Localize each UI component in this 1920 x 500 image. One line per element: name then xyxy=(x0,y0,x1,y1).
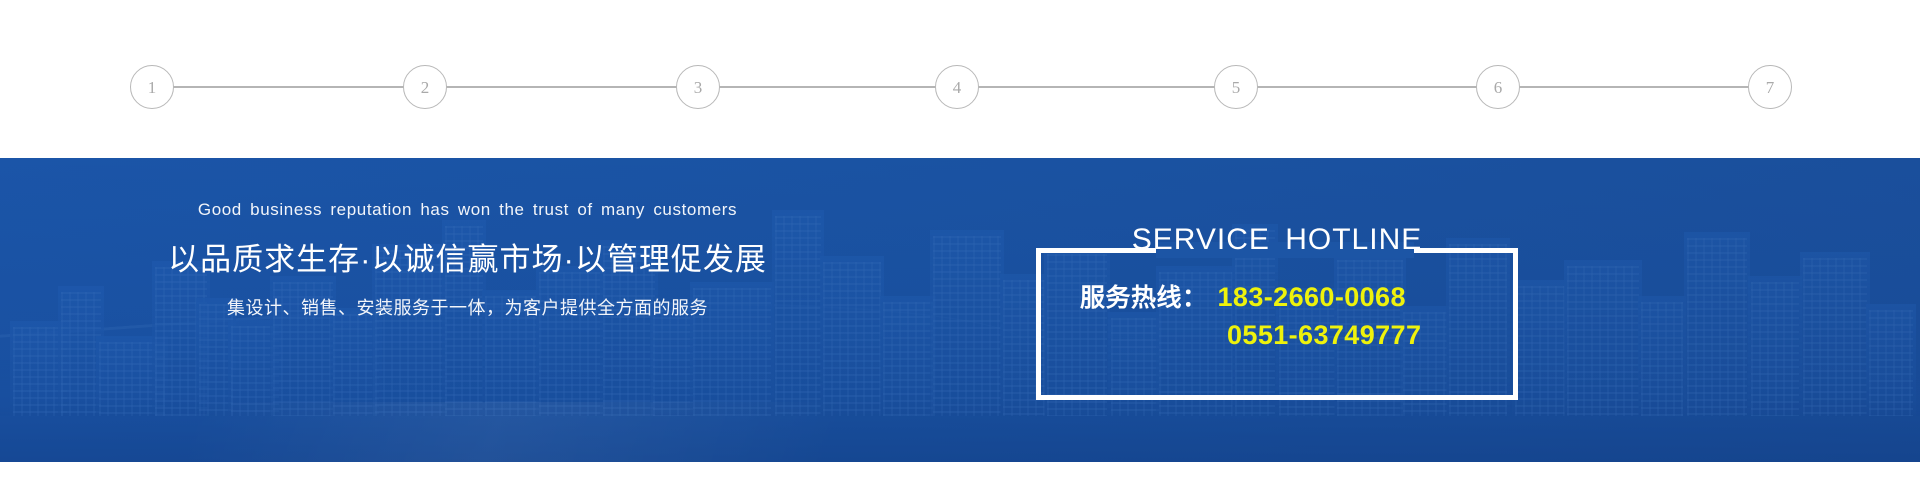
pagination-step-6[interactable]: 6 xyxy=(1476,65,1520,109)
hotline-phone-primary[interactable]: 183-2660-0068 xyxy=(1218,282,1406,313)
skyline-building xyxy=(1638,296,1686,416)
skyline-building xyxy=(1512,280,1568,416)
pagination-step-4[interactable]: 4 xyxy=(935,65,979,109)
pagination-step-3[interactable]: 3 xyxy=(676,65,720,109)
pagination-step-5[interactable]: 5 xyxy=(1214,65,1258,109)
service-hotline-box: SERVICE HOTLINE 服务热线： 183-2660-0068 0551… xyxy=(1036,248,1518,400)
skyline-building xyxy=(930,230,1004,416)
pagination-steps: 1234567 xyxy=(0,0,1920,158)
hero-bottom-sheen xyxy=(0,402,1920,462)
footer-white-strip xyxy=(0,462,1920,500)
skyline-building xyxy=(1684,232,1750,416)
pagination-step-1[interactable]: 1 xyxy=(130,65,174,109)
hotline-label: 服务热线： xyxy=(1080,278,1208,314)
hotline-title: SERVICE HOTLINE xyxy=(1036,223,1518,257)
skyline-building xyxy=(1564,260,1642,416)
hotline-row-secondary: 0551-63749777 xyxy=(1036,320,1518,351)
pagination-step-2[interactable]: 2 xyxy=(403,65,447,109)
skyline-building xyxy=(1800,252,1870,416)
pagination-step-7[interactable]: 7 xyxy=(1748,65,1792,109)
slogan-english: Good business reputation has won the tru… xyxy=(0,200,935,220)
slogan-headline: 以品质求生存·以诚信赢市场·以管理促发展 xyxy=(0,234,935,279)
slogan-subline: 集设计、销售、安装服务于一体，为客户提供全方面的服务 xyxy=(0,294,935,320)
skyline-building xyxy=(1748,276,1802,416)
skyline-building xyxy=(1866,304,1916,416)
slogan-block: Good business reputation has won the tru… xyxy=(0,200,935,320)
hero-banner: Good business reputation has won the tru… xyxy=(0,158,1920,462)
hotline-row-primary: 服务热线： 183-2660-0068 xyxy=(1036,278,1518,314)
pagination-strip: 1234567 xyxy=(0,0,1920,158)
hotline-phone-secondary[interactable]: 0551-63749777 xyxy=(1227,320,1421,351)
hotline-numbers: 服务热线： 183-2660-0068 0551-63749777 xyxy=(1036,278,1518,351)
page-root: 1234567 Good business reputation has won… xyxy=(0,0,1920,500)
